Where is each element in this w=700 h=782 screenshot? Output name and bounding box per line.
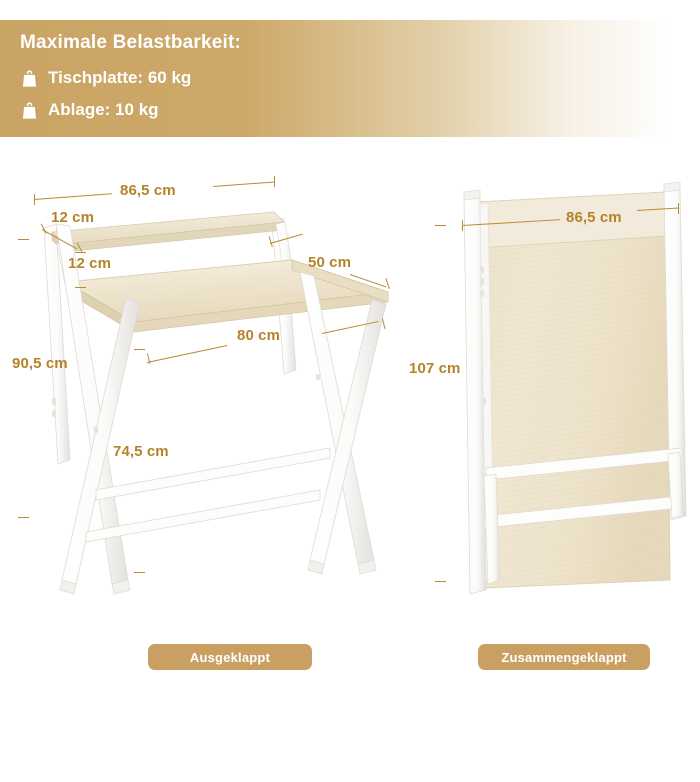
dimension-panel-width: 86,5 cm bbox=[566, 209, 622, 226]
tick-desk-height-top bbox=[134, 349, 145, 350]
tick-shelf-width-right bbox=[274, 176, 275, 187]
tick-shelf-height-bottom bbox=[75, 287, 86, 288]
bag-icon bbox=[20, 69, 39, 88]
dimension-desk-width: 80 cm bbox=[237, 327, 280, 344]
caption-folded: Zusammengeklappt bbox=[478, 644, 650, 670]
dimension-panel-height: 107 cm bbox=[409, 360, 460, 377]
dimension-shelf-depth: 12 cm bbox=[51, 209, 94, 226]
tick-panel-height-bottom bbox=[435, 581, 446, 582]
dimension-total-height: 90,5 cm bbox=[12, 355, 68, 372]
dimension-shelf-height: 12 cm bbox=[68, 255, 111, 272]
capacity-label-shelf: Ablage: 10 kg bbox=[48, 100, 159, 120]
tick-shelf-height-top bbox=[75, 252, 86, 253]
capacity-label-tabletop: Tischplatte: 60 kg bbox=[48, 68, 191, 88]
load-capacity-banner: Maximale Belastbarkeit: Tischplatte: 60 … bbox=[0, 20, 700, 137]
capacity-row-tabletop: Tischplatte: 60 kg bbox=[20, 68, 191, 88]
bag-icon bbox=[20, 101, 39, 120]
folded-desk-illustration bbox=[450, 180, 700, 600]
tick-shelf-width-left bbox=[34, 194, 35, 205]
product-dimension-diagram: Maximale Belastbarkeit: Tischplatte: 60 … bbox=[0, 0, 700, 700]
caption-unfolded: Ausgeklappt bbox=[148, 644, 312, 670]
tick-total-height-bottom bbox=[18, 517, 29, 518]
tick-total-height-top bbox=[18, 239, 29, 240]
unfolded-desk-illustration bbox=[0, 160, 400, 660]
dimension-desk-height: 74,5 cm bbox=[113, 443, 169, 460]
banner-title: Maximale Belastbarkeit: bbox=[20, 32, 241, 54]
dimension-shelf-width: 86,5 cm bbox=[120, 182, 176, 199]
capacity-row-shelf: Ablage: 10 kg bbox=[20, 100, 159, 120]
dimension-desk-depth: 50 cm bbox=[308, 254, 351, 271]
tick-panel-height-top bbox=[435, 225, 446, 226]
tick-panel-width-right bbox=[678, 203, 679, 214]
tick-panel-width-left bbox=[462, 220, 463, 231]
dimension-line-shelf-height-top bbox=[0, 0, 1, 10]
tick-desk-height-bottom bbox=[134, 572, 145, 573]
